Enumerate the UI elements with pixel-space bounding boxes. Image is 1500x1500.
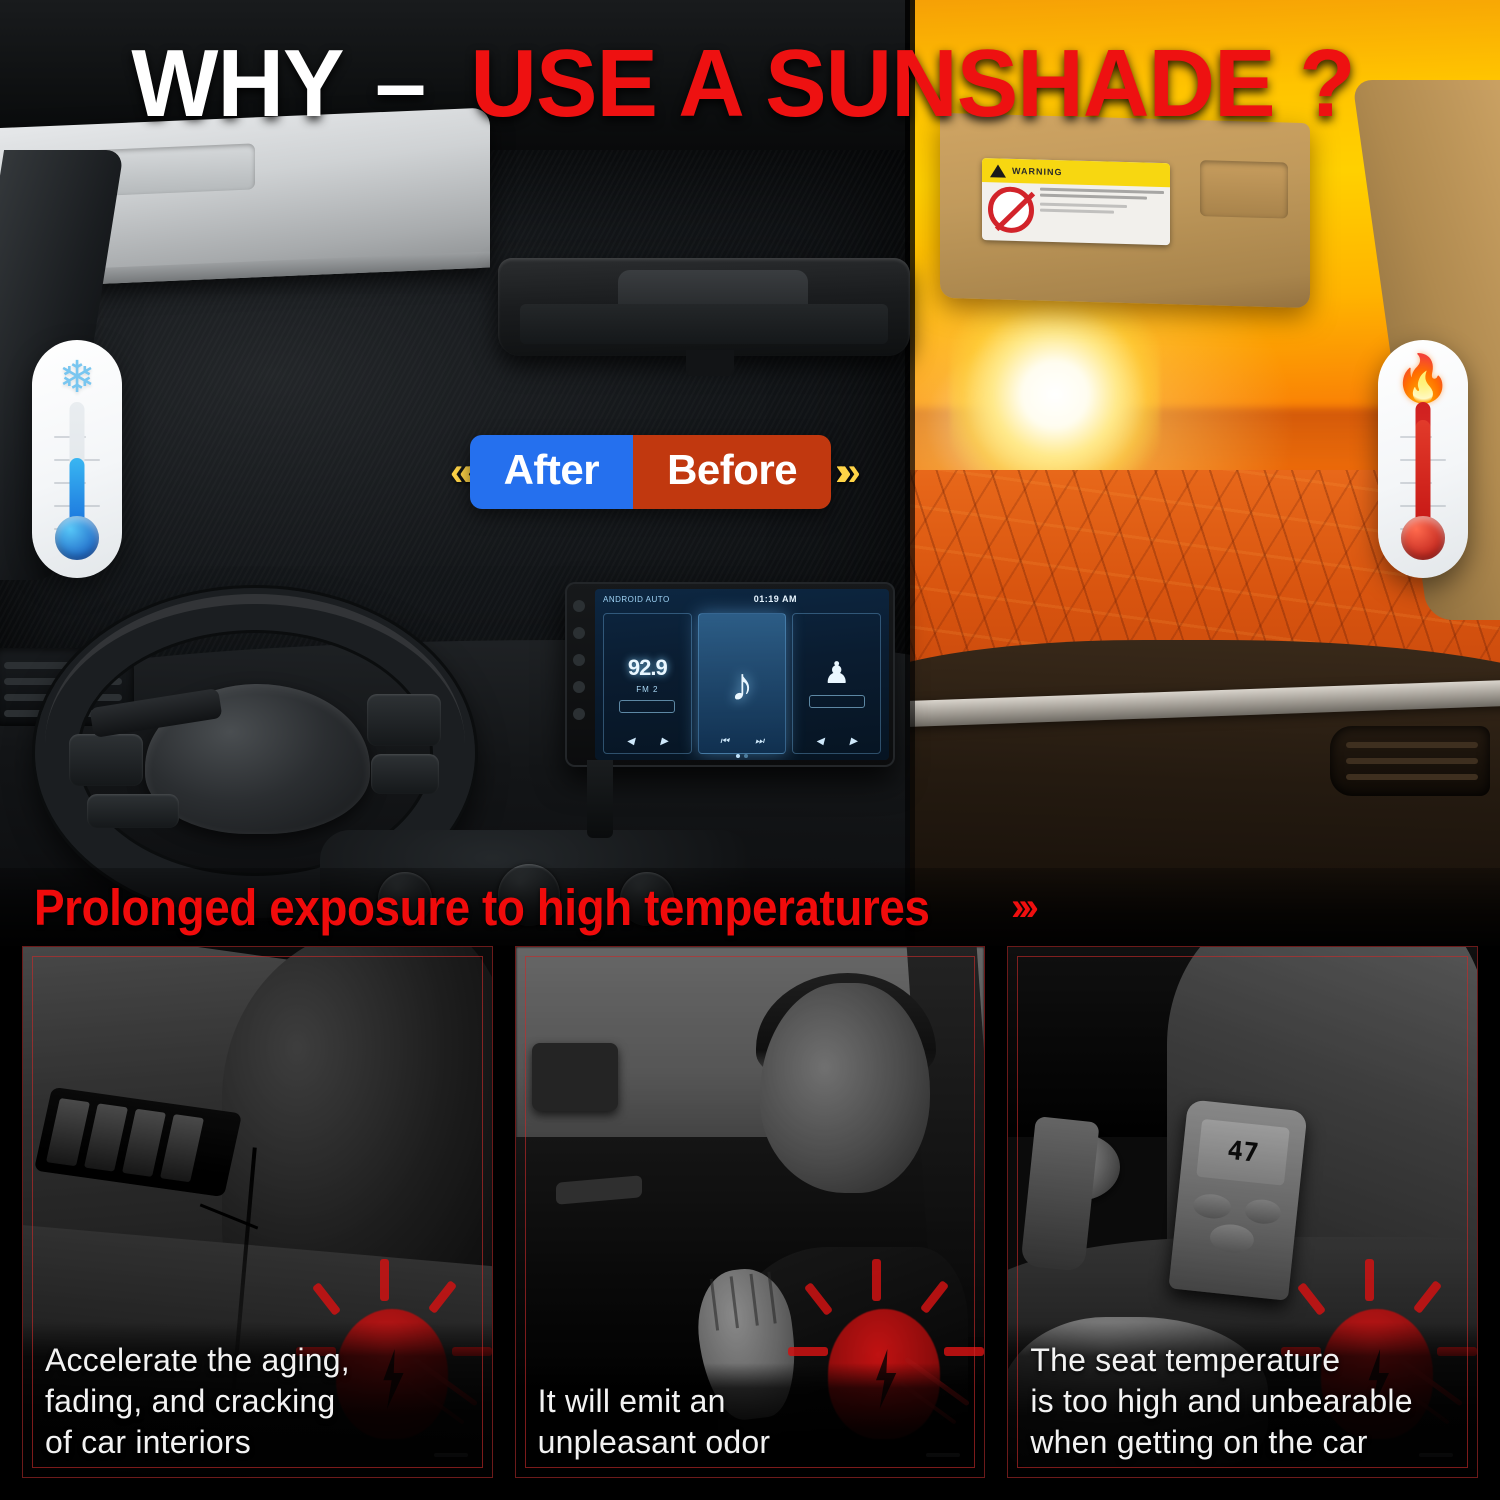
- before-badge[interactable]: Before: [633, 435, 831, 509]
- thermometer-button-left[interactable]: [1192, 1192, 1232, 1220]
- visor-mirror: [1200, 160, 1288, 218]
- steering-control-left-lower[interactable]: [87, 794, 179, 828]
- hu-button-menu[interactable]: [573, 681, 585, 693]
- panel-unpleasant-odor: It will emit anunpleasant odor: [515, 946, 986, 1478]
- warning-heading: WARNING: [1012, 166, 1063, 177]
- title-rest: USE A SUNSHADE ?: [471, 29, 1355, 139]
- head-unit-status-bar: ANDROID AUTO 01:19 AM: [595, 589, 889, 609]
- thermometer-button-right[interactable]: [1244, 1198, 1282, 1226]
- panel-hot-seat: 47 The seat temperatureis too high and u…: [1007, 946, 1478, 1478]
- radio-prev-icon[interactable]: ◀: [627, 736, 635, 747]
- media-transport-controls[interactable]: ⏮ ⏭: [720, 736, 764, 747]
- person-head: [760, 983, 930, 1193]
- chevron-triple-icon: ›››: [1011, 885, 1033, 930]
- rearview-mirror: [498, 258, 910, 356]
- radio-next-icon[interactable]: ▶: [660, 736, 668, 747]
- phone-next-icon[interactable]: ▶: [850, 736, 858, 747]
- hu-button-volume[interactable]: [573, 654, 585, 666]
- compare-buttons[interactable]: After Before: [470, 435, 832, 509]
- radio-band: FM 2: [636, 685, 658, 694]
- thermometer-display: 47: [1197, 1119, 1291, 1186]
- phone-contact-pill[interactable]: [809, 695, 865, 708]
- right-sun-visor: WARNING: [940, 113, 1310, 308]
- hu-button-power[interactable]: [573, 600, 585, 612]
- infotainment-head-unit[interactable]: ANDROID AUTO 01:19 AM 92.9 FM 2 ◀ ▶: [565, 582, 895, 767]
- radio-card[interactable]: 92.9 FM 2 ◀ ▶: [603, 613, 692, 754]
- phone-nav-arrows[interactable]: ◀ ▶: [816, 736, 857, 747]
- panel-caption: It will emit anunpleasant odor: [516, 1363, 985, 1477]
- phone-prev-icon[interactable]: ◀: [816, 736, 824, 747]
- cold-thermometer-badge: ❄: [32, 340, 122, 578]
- head-unit-cards: 92.9 FM 2 ◀ ▶ ♪ ⏮ ⏭: [595, 609, 889, 754]
- person-icon: ♟: [823, 659, 850, 689]
- consequence-panels: Accelerate the aging,fading, and crackin…: [0, 946, 1500, 1500]
- hu-button-home[interactable]: [573, 627, 585, 639]
- warning-text-lines: [1040, 188, 1164, 237]
- snowflake-icon: ❄: [59, 354, 96, 402]
- no-rear-facing-child-seat-icon: [988, 186, 1034, 233]
- steering-control-left[interactable]: [69, 734, 143, 786]
- before-after-toggle[interactable]: «‹ After Before ›»: [450, 430, 1010, 514]
- flame-icon: 🔥: [1394, 354, 1451, 402]
- hu-clock: 01:19 AM: [754, 594, 797, 604]
- media-card[interactable]: ♪ ⏮ ⏭: [698, 613, 787, 754]
- side-mirror: [532, 1043, 618, 1111]
- chevron-left-icon: «‹: [450, 450, 466, 495]
- head-unit-side-buttons[interactable]: [573, 600, 589, 720]
- radio-tune-arrows[interactable]: ◀ ▶: [627, 736, 668, 747]
- hu-button-eject[interactable]: [573, 708, 585, 720]
- right-air-vent: [1330, 726, 1490, 796]
- phone-card[interactable]: ♟ ◀ ▶: [792, 613, 881, 754]
- chevron-right-icon: ›»: [835, 450, 851, 495]
- radio-preset-pill[interactable]: [619, 700, 675, 713]
- panel-cracked-interior: Accelerate the aging,fading, and crackin…: [22, 946, 493, 1478]
- radio-frequency: 92.9: [628, 655, 667, 681]
- title-dash: –: [375, 29, 425, 139]
- after-badge[interactable]: After: [470, 435, 634, 509]
- mid-banner-text: Prolonged exposure to high temperatures: [34, 878, 930, 937]
- media-rewind-icon[interactable]: ⏮: [720, 736, 729, 747]
- head-unit-mount: [587, 760, 613, 838]
- steering-control-right[interactable]: [367, 694, 441, 746]
- steering-control-right-lower[interactable]: [371, 754, 439, 794]
- thermometer-bulb: [55, 516, 99, 560]
- infrared-thermometer: 47: [1169, 1099, 1308, 1301]
- mid-banner: Prolonged exposure to high temperatures …: [0, 868, 1500, 946]
- hot-thermometer-badge: 🔥: [1378, 340, 1468, 578]
- panel-caption: The seat temperatureis too high and unbe…: [1008, 1322, 1477, 1477]
- head-unit-screen[interactable]: ANDROID AUTO 01:19 AM 92.9 FM 2 ◀ ▶: [595, 589, 889, 760]
- mirror-stem: [686, 350, 734, 376]
- warning-triangle-icon: [990, 164, 1006, 177]
- airbag-warning-label: WARNING: [982, 158, 1170, 245]
- warning-label-body: [982, 182, 1170, 241]
- title-why: WHY: [131, 29, 343, 139]
- reflected-rear-seat: [520, 304, 888, 344]
- page-indicator-dots[interactable]: [736, 754, 748, 758]
- thermometer-button-mode[interactable]: [1209, 1222, 1256, 1254]
- music-note-icon: ♪: [731, 665, 754, 703]
- before-after-hero: WARNING: [0, 0, 1500, 945]
- panel-caption: Accelerate the aging,fading, and crackin…: [23, 1322, 492, 1477]
- page-title: WHY – USE A SUNSHADE ?: [0, 28, 1500, 140]
- sunshade-infographic-poster: WARNING: [0, 0, 1500, 1500]
- thermometer-bulb: [1401, 516, 1445, 560]
- hu-source-label: ANDROID AUTO: [603, 595, 670, 604]
- media-forward-icon[interactable]: ⏭: [755, 736, 764, 747]
